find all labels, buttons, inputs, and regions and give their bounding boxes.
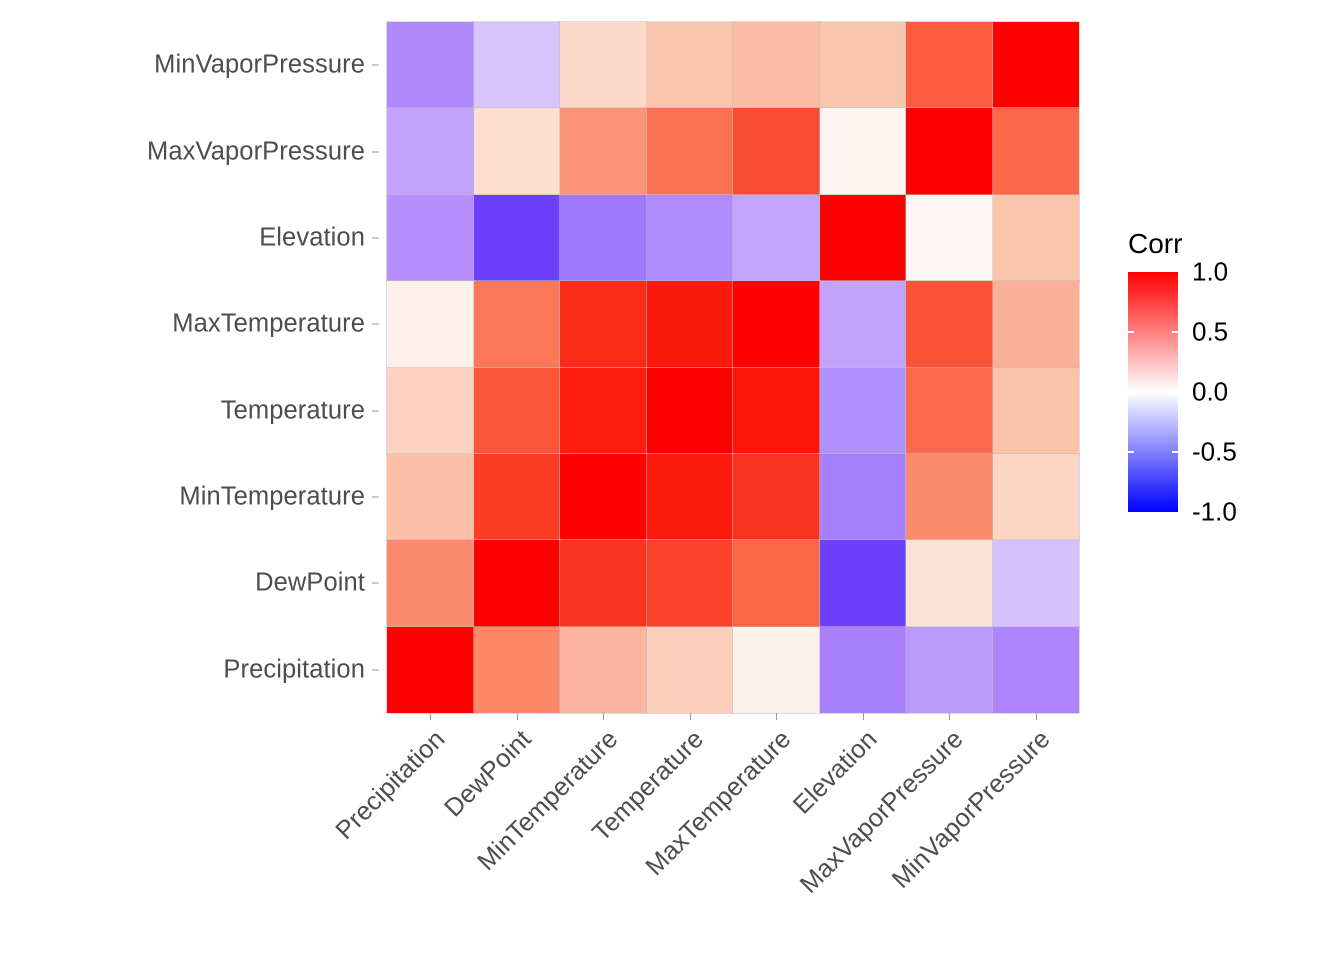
x-tick-mark (1036, 713, 1037, 720)
heatmap-cell (733, 108, 820, 194)
heatmap-cell (647, 368, 734, 454)
heatmap-cell (906, 454, 993, 540)
heatmap-cell (906, 368, 993, 454)
heatmap-cell (906, 627, 993, 713)
heatmap-cell (733, 454, 820, 540)
heatmap-cell (733, 22, 820, 108)
legend-colorbar: 1.00.50.0-0.5-1.0 (1128, 272, 1178, 512)
x-tick-mark (949, 713, 950, 720)
legend-tick-label: 1.0 (1192, 257, 1228, 288)
x-tick-mark (430, 713, 431, 720)
heatmap-cell (474, 108, 561, 194)
legend-tick-label: 0.5 (1192, 317, 1228, 348)
x-tick-label-maxvaporpressure: MaxVaporPressure (795, 725, 970, 900)
heatmap-cell (387, 195, 474, 281)
heatmap-cell (820, 627, 907, 713)
heatmap-cell (733, 368, 820, 454)
heatmap-cell (474, 22, 561, 108)
heatmap-cell (560, 22, 647, 108)
x-tick-label-precipitation: Precipitation (330, 725, 451, 846)
heatmap-cell (560, 627, 647, 713)
x-tick-label-maxtemperature: MaxTemperature (640, 725, 797, 882)
x-axis: PrecipitationDewPointMinTemperatureTempe… (387, 713, 1079, 953)
legend-tick-mark (1128, 451, 1134, 453)
legend-tick-mark (1172, 391, 1178, 393)
y-tick-mark (372, 669, 379, 670)
heatmap-cell (387, 627, 474, 713)
heatmap-cell (993, 454, 1080, 540)
heatmap-cell (474, 627, 561, 713)
x-tick-mark (517, 713, 518, 720)
heatmap-cell (387, 22, 474, 108)
heatmap-cell (820, 368, 907, 454)
heatmap-cell (820, 108, 907, 194)
y-tick-label-mintemperature: MinTemperature (179, 483, 365, 512)
heatmap-cell (474, 540, 561, 626)
y-tick-mark (372, 497, 379, 498)
y-tick-mark (372, 237, 379, 238)
y-tick-label-precipitation: Precipitation (223, 655, 365, 684)
x-tick-mark (863, 713, 864, 720)
heatmap-cell (993, 540, 1080, 626)
y-tick-label-maxtemperature: MaxTemperature (172, 310, 365, 339)
heatmap-cell-grid (387, 22, 1079, 713)
heatmap-cell (560, 281, 647, 367)
heatmap-cell (387, 540, 474, 626)
heatmap-cell (820, 454, 907, 540)
heatmap-cell (993, 195, 1080, 281)
heatmap-cell (647, 195, 734, 281)
heatmap-cell (560, 540, 647, 626)
y-axis: MinVaporPressureMaxVaporPressureElevatio… (0, 22, 379, 713)
legend-tick-mark (1172, 331, 1178, 333)
heatmap-cell (820, 281, 907, 367)
legend: Corr 1.00.50.0-0.5-1.0 (1122, 228, 1322, 528)
y-tick-label-dewpoint: DewPoint (255, 569, 365, 598)
legend-tick-mark (1128, 331, 1134, 333)
heatmap-cell (387, 108, 474, 194)
heatmap-panel (387, 22, 1079, 713)
legend-tick-mark (1172, 451, 1178, 453)
heatmap-cell (647, 454, 734, 540)
heatmap-cell (387, 454, 474, 540)
x-tick-mark (776, 713, 777, 720)
x-tick-mark (603, 713, 604, 720)
x-tick-label-minvaporpressure: MinVaporPressure (887, 725, 1057, 895)
y-tick-label-minvaporpressure: MinVaporPressure (154, 51, 365, 80)
heatmap-cell (474, 195, 561, 281)
x-tick-mark (690, 713, 691, 720)
legend-tick-label: 0.0 (1192, 377, 1228, 408)
heatmap-cell (993, 108, 1080, 194)
y-tick-label-temperature: Temperature (221, 396, 365, 425)
heatmap-cell (387, 368, 474, 454)
y-tick-label-elevation: Elevation (259, 223, 365, 252)
legend-title: Corr (1128, 228, 1182, 260)
legend-tick-mark (1128, 391, 1134, 393)
y-tick-mark (372, 583, 379, 584)
correlation-heatmap-figure: MinVaporPressureMaxVaporPressureElevatio… (0, 0, 1344, 960)
heatmap-cell (906, 281, 993, 367)
heatmap-cell (993, 368, 1080, 454)
heatmap-cell (647, 22, 734, 108)
heatmap-cell (560, 454, 647, 540)
y-tick-mark (372, 324, 379, 325)
heatmap-cell (733, 540, 820, 626)
heatmap-cell (820, 22, 907, 108)
y-tick-mark (372, 65, 379, 66)
heatmap-cell (906, 195, 993, 281)
heatmap-cell (560, 368, 647, 454)
heatmap-cell (820, 540, 907, 626)
heatmap-cell (733, 627, 820, 713)
heatmap-cell (387, 281, 474, 367)
heatmap-cell (906, 540, 993, 626)
heatmap-cell (906, 108, 993, 194)
heatmap-cell (993, 281, 1080, 367)
heatmap-cell (474, 454, 561, 540)
heatmap-cell (647, 281, 734, 367)
heatmap-cell (733, 195, 820, 281)
legend-tick-label: -1.0 (1192, 497, 1237, 528)
legend-tick-label: -0.5 (1192, 437, 1237, 468)
y-tick-label-maxvaporpressure: MaxVaporPressure (147, 137, 365, 166)
heatmap-cell (647, 108, 734, 194)
heatmap-cell (993, 22, 1080, 108)
heatmap-cell (733, 281, 820, 367)
heatmap-cell (474, 368, 561, 454)
heatmap-cell (647, 627, 734, 713)
legend-gradient (1128, 272, 1178, 512)
heatmap-cell (474, 281, 561, 367)
heatmap-cell (820, 195, 907, 281)
heatmap-cell (560, 108, 647, 194)
heatmap-cell (906, 22, 993, 108)
heatmap-cell (560, 195, 647, 281)
heatmap-cell (993, 627, 1080, 713)
y-tick-mark (372, 151, 379, 152)
heatmap-cell (647, 540, 734, 626)
y-tick-mark (372, 410, 379, 411)
